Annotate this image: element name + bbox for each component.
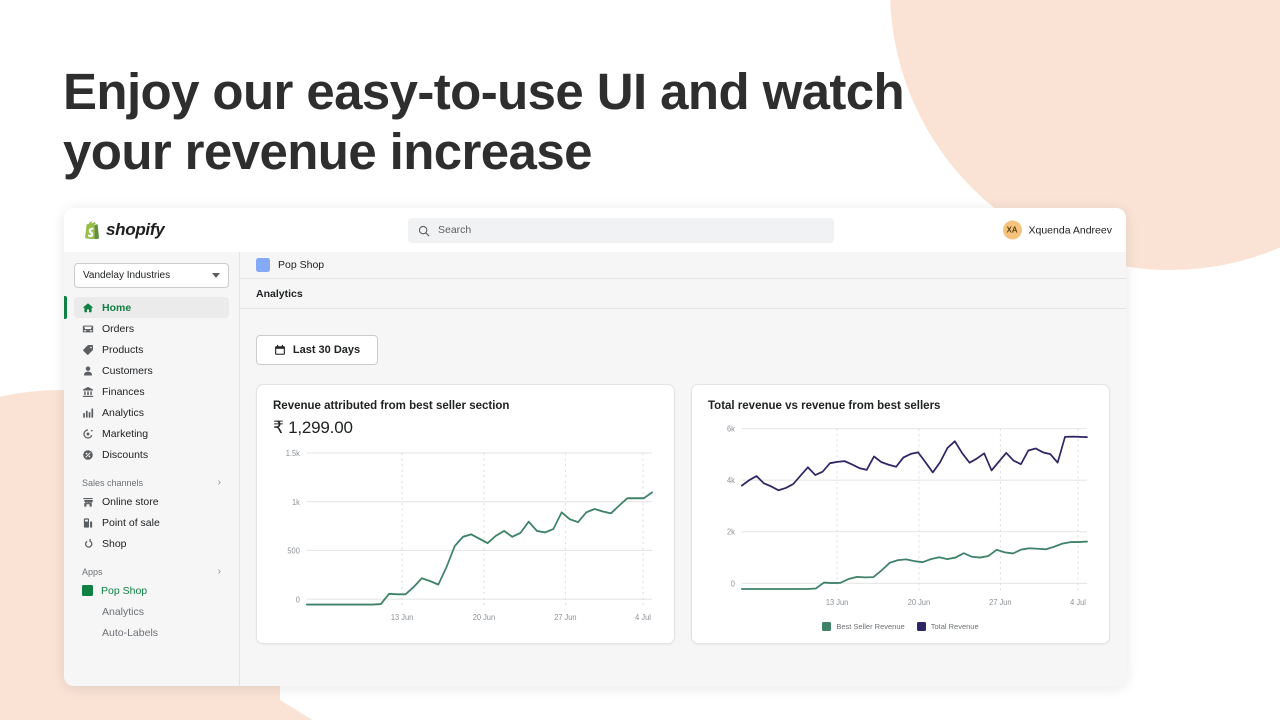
sidebar-item-label: Discounts	[102, 449, 148, 461]
sidebar-item-finances[interactable]: Finances	[74, 381, 229, 402]
app-topbar: shopify Search XA Xquenda Andreev	[64, 208, 1126, 252]
chart-legend: Best Seller Revenue Total Revenue	[708, 622, 1093, 631]
legend-item: Total Revenue	[917, 622, 979, 631]
sidebar-item-point-of-sale[interactable]: Point of sale	[74, 512, 229, 533]
sidebar-item-label: Point of sale	[102, 517, 160, 529]
user-name: Xquenda Andreev	[1029, 224, 1113, 236]
sidebar-item-label: Finances	[102, 386, 145, 398]
sidebar-subitem-label: Analytics	[102, 606, 144, 618]
svg-text:27 Jun: 27 Jun	[554, 612, 576, 621]
app-window: shopify Search XA Xquenda Andreev	[64, 208, 1126, 686]
sidebar-item-label: Products	[102, 344, 143, 356]
sidebar-section-apps[interactable]: Apps ›	[74, 567, 229, 577]
shopify-bag-icon	[84, 221, 100, 239]
shopify-logo[interactable]: shopify	[78, 220, 408, 240]
svg-text:6k: 6k	[727, 424, 735, 433]
chart-total-vs-best-seller: 02k4k6k13 Jun20 Jun27 Jun4 Jul	[708, 418, 1093, 620]
search-icon	[418, 224, 430, 236]
megaphone-target-icon	[82, 428, 94, 440]
sidebar-item-orders[interactable]: Orders	[74, 318, 229, 339]
chevron-right-icon[interactable]: ›	[218, 478, 221, 488]
sidebar-item-discounts[interactable]: Discounts	[74, 444, 229, 465]
line-chart-svg: 05001k1.5k13 Jun20 Jun27 Jun4 Jul	[273, 444, 658, 631]
sidebar-item-label: Analytics	[102, 407, 144, 419]
date-range-label: Last 30 Days	[293, 344, 360, 356]
card-total-vs-best-seller: Total revenue vs revenue from best selle…	[691, 384, 1110, 644]
store-selector[interactable]: Vandelay Industries	[74, 263, 229, 288]
home-icon	[82, 302, 94, 314]
card-kpi-value: ₹ 1,299.00	[273, 418, 658, 438]
legend-item: Best Seller Revenue	[822, 622, 904, 631]
main-content: Pop Shop Analytics	[240, 252, 1126, 686]
svg-text:13 Jun: 13 Jun	[391, 612, 413, 621]
sidebar-item-label: Home	[102, 302, 131, 314]
svg-text:4 Jul: 4 Jul	[1070, 598, 1086, 607]
bank-icon	[82, 386, 94, 398]
sidebar-subitem-auto-labels[interactable]: Auto-Labels	[74, 622, 229, 643]
sidebar-item-online-store[interactable]: Online store	[74, 491, 229, 512]
sidebar-item-label: Marketing	[102, 428, 148, 440]
shopify-wordmark: shopify	[106, 220, 164, 240]
search-placeholder: Search	[438, 224, 471, 236]
sidebar-section-title: Apps	[82, 567, 103, 577]
store-selector-label: Vandelay Industries	[83, 270, 170, 281]
app-body: Vandelay Industries Home Orders	[64, 252, 1126, 686]
sidebar-item-label: Orders	[102, 323, 134, 335]
sidebar-item-label: Pop Shop	[101, 585, 147, 597]
svg-text:13 Jun: 13 Jun	[826, 598, 848, 607]
page-headline: Enjoy our easy-to-use UI and watch your …	[63, 62, 963, 181]
app-context-name: Pop Shop	[278, 259, 324, 271]
chevron-down-icon	[212, 273, 220, 278]
svg-text:4k: 4k	[727, 476, 735, 485]
page-title: Analytics	[256, 288, 303, 300]
chevron-right-icon[interactable]: ›	[218, 567, 221, 577]
sidebar-item-customers[interactable]: Customers	[74, 360, 229, 381]
svg-text:20 Jun: 20 Jun	[473, 612, 495, 621]
sidebar-section-title: Sales channels	[82, 478, 143, 488]
svg-text:1k: 1k	[292, 497, 300, 506]
sidebar-section-sales-channels[interactable]: Sales channels ›	[74, 478, 229, 488]
svg-text:2k: 2k	[727, 528, 735, 537]
tag-icon	[82, 344, 94, 356]
svg-text:0: 0	[731, 579, 735, 588]
search-input[interactable]: Search	[408, 218, 834, 243]
discount-badge-icon	[82, 449, 94, 461]
chart-cards: Revenue attributed from best seller sect…	[256, 384, 1110, 644]
sidebar-subitem-analytics[interactable]: Analytics	[74, 601, 229, 622]
storefront-icon	[82, 496, 94, 508]
sidebar-subitem-label: Auto-Labels	[102, 627, 158, 639]
card-title: Revenue attributed from best seller sect…	[273, 400, 658, 412]
user-menu[interactable]: XA Xquenda Andreev	[1003, 221, 1113, 240]
svg-text:1.5k: 1.5k	[286, 449, 300, 458]
sidebar-item-shop[interactable]: Shop	[74, 533, 229, 554]
svg-text:27 Jun: 27 Jun	[989, 598, 1011, 607]
app-icon	[256, 258, 270, 272]
page-header: Analytics	[240, 279, 1126, 309]
sidebar-item-label: Customers	[102, 365, 153, 377]
card-title: Total revenue vs revenue from best selle…	[708, 400, 1093, 412]
sidebar-item-analytics[interactable]: Analytics	[74, 402, 229, 423]
legend-swatch	[917, 622, 926, 631]
legend-label: Total Revenue	[931, 622, 979, 631]
svg-text:4 Jul: 4 Jul	[635, 612, 651, 621]
sidebar-item-home[interactable]: Home	[74, 297, 229, 318]
person-icon	[82, 365, 94, 377]
screenshot-root: Enjoy our easy-to-use UI and watch your …	[0, 0, 1280, 720]
calendar-icon	[274, 344, 286, 356]
line-chart-svg: 02k4k6k13 Jun20 Jun27 Jun4 Jul	[708, 418, 1093, 620]
app-context-bar: Pop Shop	[240, 252, 1126, 279]
svg-text:0: 0	[296, 595, 301, 604]
shop-icon	[82, 538, 94, 550]
sidebar-item-marketing[interactable]: Marketing	[74, 423, 229, 444]
sidebar-item-pop-shop[interactable]: Pop Shop	[74, 580, 229, 601]
legend-swatch	[822, 622, 831, 631]
sidebar-item-label: Online store	[102, 496, 159, 508]
date-range-button[interactable]: Last 30 Days	[256, 335, 378, 365]
legend-label: Best Seller Revenue	[836, 622, 904, 631]
card-revenue-best-seller: Revenue attributed from best seller sect…	[256, 384, 675, 644]
avatar: XA	[1003, 221, 1022, 240]
pos-terminal-icon	[82, 517, 94, 529]
app-swatch-icon	[82, 585, 93, 596]
svg-text:20 Jun: 20 Jun	[908, 598, 930, 607]
sidebar-item-label: Shop	[102, 538, 127, 550]
bar-chart-icon	[82, 407, 94, 419]
svg-text:500: 500	[287, 546, 300, 555]
sidebar-item-products[interactable]: Products	[74, 339, 229, 360]
analytics-content: Last 30 Days Revenue attributed from bes…	[240, 309, 1126, 686]
chart-revenue-best-seller: 05001k1.5k13 Jun20 Jun27 Jun4 Jul	[273, 444, 658, 631]
orders-inbox-icon	[82, 323, 94, 335]
sidebar: Vandelay Industries Home Orders	[64, 252, 240, 686]
